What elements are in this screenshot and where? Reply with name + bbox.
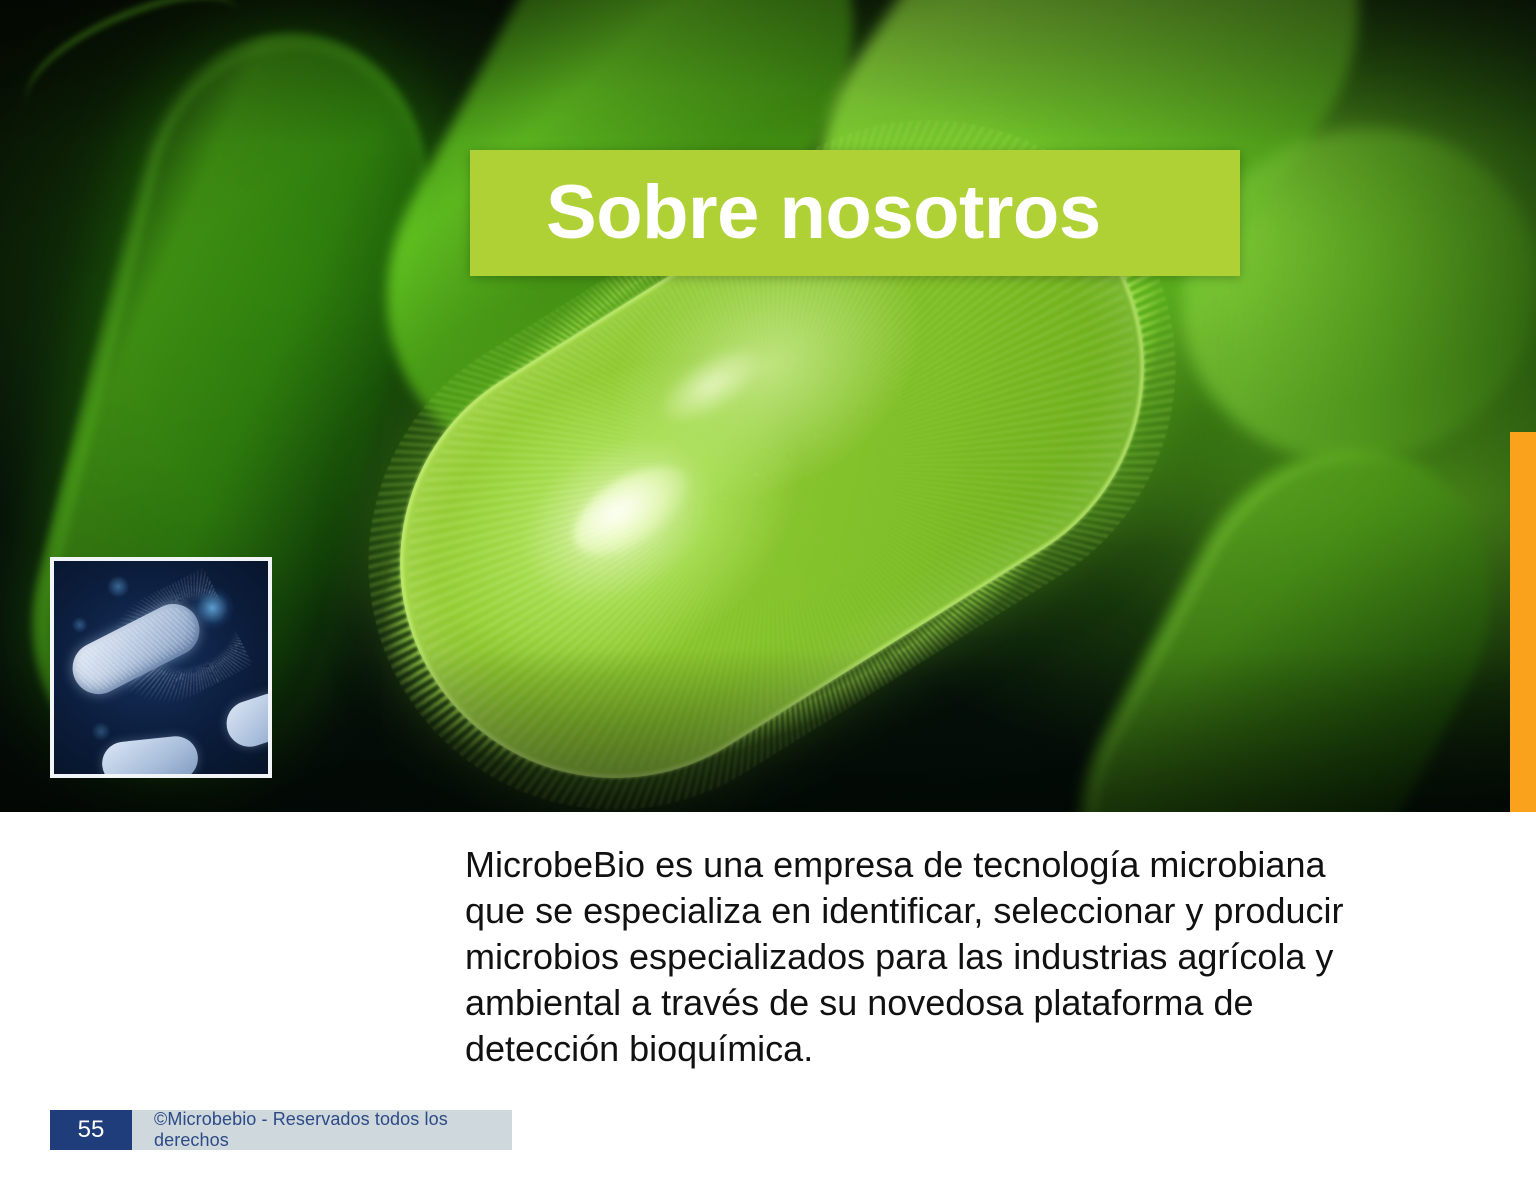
page-title: Sobre nosotros <box>470 175 1101 251</box>
copyright-notice: ©Microbebio - Reservados todos los derec… <box>132 1110 512 1150</box>
body-paragraph: MicrobeBio es una empresa de tecnología … <box>465 842 1385 1072</box>
footer: 55 ©Microbebio - Reservados todos los de… <box>50 1110 512 1150</box>
inset-thumbnail <box>50 557 272 778</box>
orange-accent-strip <box>1510 432 1536 812</box>
title-banner: Sobre nosotros <box>470 150 1240 276</box>
page-number-badge: 55 <box>50 1110 132 1150</box>
